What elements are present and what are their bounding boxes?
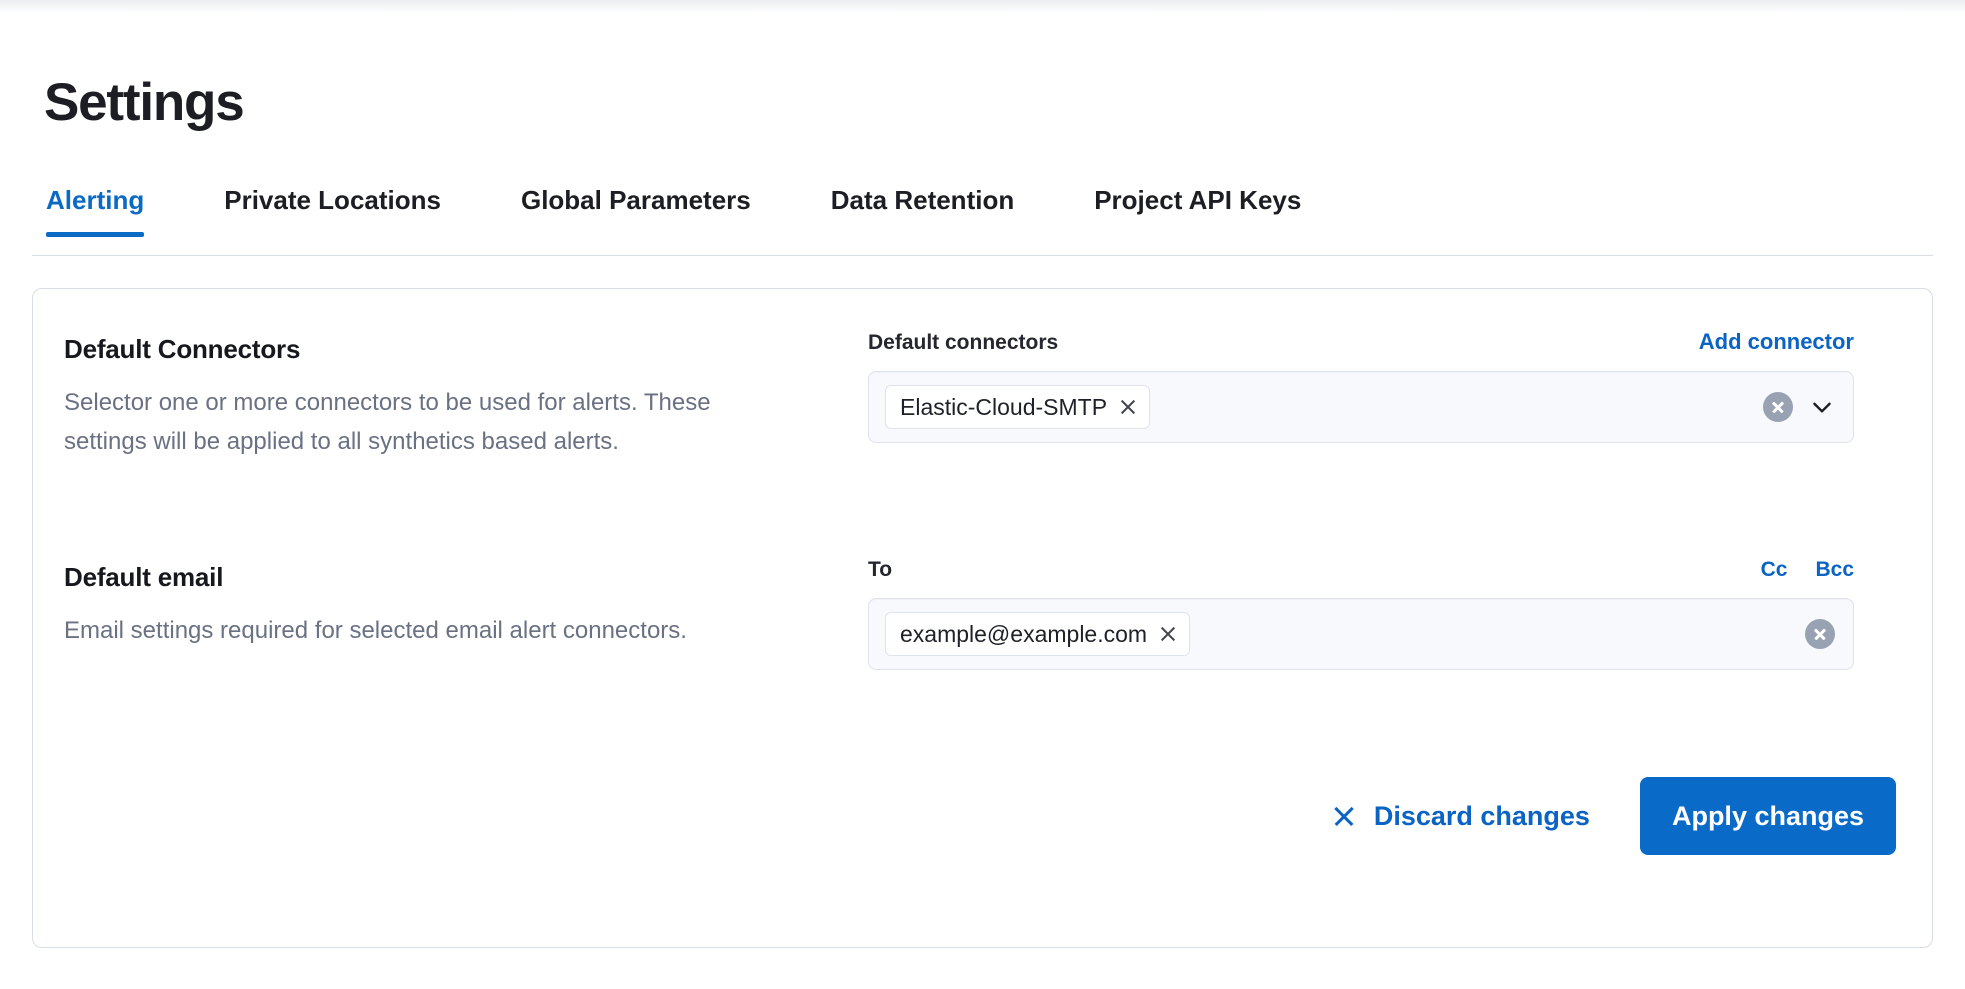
clear-connectors-icon[interactable] — [1763, 392, 1793, 422]
to-field-label: To — [868, 557, 892, 583]
tab-project-api-keys[interactable]: Project API Keys — [1080, 184, 1315, 236]
default-connectors-field-header: Default connectors Add connector — [868, 329, 1854, 356]
tab-global-parameters-label: Global Parameters — [521, 185, 751, 215]
add-connector-button[interactable]: Add connector — [1699, 329, 1854, 355]
default-email-title: Default email — [64, 561, 828, 593]
cross-icon — [1332, 804, 1356, 828]
card-footer-actions: Discard changes Apply changes — [33, 721, 1932, 947]
page-title: Settings — [44, 72, 243, 134]
tab-project-api-keys-label: Project API Keys — [1094, 185, 1301, 215]
connector-pill[interactable]: Elastic-Cloud-SMTP — [885, 385, 1150, 429]
default-email-description: Email settings required for selected ema… — [64, 611, 784, 650]
discard-changes-button[interactable]: Discard changes — [1318, 789, 1604, 843]
clear-recipients-icon[interactable] — [1805, 619, 1835, 649]
chevron-down-icon[interactable] — [1809, 394, 1835, 420]
default-connectors-info: Default Connectors Selector one or more … — [33, 289, 868, 517]
default-email-control: To Cc Bcc example@example.com — [868, 517, 1932, 723]
default-email-info: Default email Email settings required fo… — [33, 517, 868, 723]
discard-changes-label: Discard changes — [1374, 799, 1590, 833]
default-connectors-title: Default Connectors — [64, 333, 828, 365]
recipient-pill-label: example@example.com — [900, 620, 1147, 648]
bcc-button[interactable]: Bcc — [1815, 557, 1854, 583]
default-email-field-header: To Cc Bcc — [868, 557, 1854, 583]
alerting-settings-card: Default Connectors Selector one or more … — [32, 288, 1933, 948]
default-connectors-control: Default connectors Add connector Elastic… — [868, 289, 1932, 517]
default-connectors-combobox-tools — [1763, 392, 1835, 422]
tab-alerting-label: Alerting — [46, 185, 144, 215]
tab-private-locations-label: Private Locations — [224, 185, 441, 215]
apply-changes-button[interactable]: Apply changes — [1640, 777, 1896, 855]
cc-button[interactable]: Cc — [1761, 557, 1788, 583]
default-connectors-field-label: Default connectors — [868, 330, 1058, 356]
remove-connector-icon[interactable] — [1119, 398, 1137, 416]
tab-private-locations[interactable]: Private Locations — [210, 184, 455, 236]
default-connectors-field-actions: Add connector — [1699, 329, 1854, 355]
to-recipients-combobox[interactable]: example@example.com — [868, 598, 1854, 670]
tab-global-parameters[interactable]: Global Parameters — [507, 184, 765, 236]
to-recipients-combobox-tools — [1805, 619, 1835, 649]
default-connectors-combobox[interactable]: Elastic-Cloud-SMTP — [868, 371, 1854, 443]
remove-recipient-icon[interactable] — [1159, 625, 1177, 643]
default-connectors-description: Selector one or more connectors to be us… — [64, 383, 784, 461]
settings-page: Settings Alerting Private Locations Glob… — [0, 0, 1965, 989]
recipient-pill[interactable]: example@example.com — [885, 612, 1190, 656]
tab-data-retention[interactable]: Data Retention — [817, 184, 1028, 236]
connector-pill-label: Elastic-Cloud-SMTP — [900, 393, 1107, 421]
email-field-actions: Cc Bcc — [1761, 557, 1854, 583]
default-email-section: Default email Email settings required fo… — [33, 517, 1932, 723]
settings-tabs: Alerting Private Locations Global Parame… — [32, 184, 1933, 256]
top-gradient-bar — [0, 0, 1965, 14]
default-connectors-section: Default Connectors Selector one or more … — [33, 289, 1932, 517]
tab-alerting[interactable]: Alerting — [32, 184, 158, 236]
tab-data-retention-label: Data Retention — [831, 185, 1014, 215]
